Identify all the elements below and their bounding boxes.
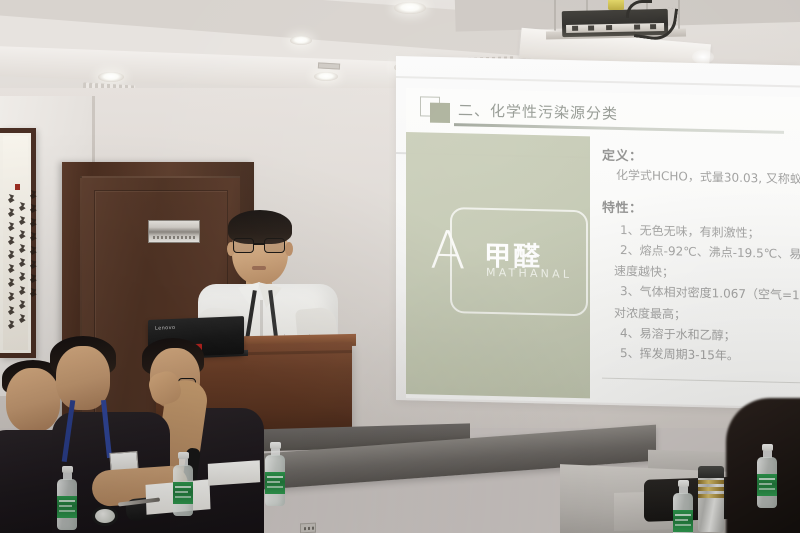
bottle-label xyxy=(673,510,693,532)
ceiling-vent xyxy=(318,62,340,69)
paper-sheet xyxy=(208,460,260,486)
ceiling-light-icon xyxy=(314,72,338,81)
lens xyxy=(233,238,254,253)
projector-light-glow xyxy=(692,50,714,64)
projector-cable xyxy=(626,0,652,18)
water-bottle xyxy=(672,480,694,533)
lens xyxy=(264,238,285,253)
ceiling-light-icon xyxy=(394,2,426,14)
projected-slide: 二、化学性污染源分类 A 甲醛 MATHANAL 定义： 化学式HCHO，式量3… xyxy=(406,88,800,407)
table-power-outlet[interactable] xyxy=(300,523,316,533)
slide-title-row: 二、化学性污染源分类 xyxy=(406,88,800,135)
square-filled-icon xyxy=(430,103,450,123)
screen-seam xyxy=(396,76,800,88)
scroll-paper xyxy=(3,136,28,350)
presenter-mouth xyxy=(252,266,266,270)
bottle-cap xyxy=(62,466,73,473)
projector-lens-icon xyxy=(608,0,624,10)
logo-letter: A xyxy=(430,225,466,278)
slide-logo-panel: A 甲醛 MATHANAL xyxy=(406,132,590,398)
nameplate-text xyxy=(153,236,197,239)
head xyxy=(6,368,60,432)
projector-port xyxy=(606,25,612,30)
bottle-cap xyxy=(270,442,281,449)
property-item: 1、无色无味，有刺激性； xyxy=(620,222,800,244)
property-item: 2、熔点-92℃、沸点-19.5℃、易 xyxy=(620,242,800,264)
slide-body-text: 定义： 化学式HCHO，式量30.03, 又称蚁醛 特性： 1、无色无味，有刺激… xyxy=(602,145,800,371)
wristwatch-icon xyxy=(92,506,118,526)
projector-mount-rod xyxy=(554,0,556,32)
calligraphy-column xyxy=(18,202,27,323)
ceiling-projector xyxy=(540,0,700,66)
slide-bottom-rule xyxy=(602,378,800,384)
laptop-brand-label: Lenovo xyxy=(155,325,175,332)
water-bottle xyxy=(56,466,78,530)
bottle-cap xyxy=(762,444,773,451)
flask-ring xyxy=(698,487,724,491)
calligraphy-column xyxy=(7,194,16,329)
property-item: 5、挥发周期3-15年。 xyxy=(620,345,800,367)
bottle-label xyxy=(173,482,193,504)
slide-title-rule xyxy=(454,123,784,134)
calligraphy-scroll xyxy=(0,128,36,358)
property-item: 3、气体相对密度1.067（空气=1） xyxy=(620,283,800,305)
ceiling-light-icon xyxy=(290,36,312,45)
bottle-label xyxy=(57,496,77,518)
seal-stamp-icon xyxy=(15,184,20,190)
door-nameplate xyxy=(148,220,200,243)
conference-room-photo: 二、化学性污染源分类 A 甲醛 MATHANAL 定义： 化学式HCHO，式量3… xyxy=(0,0,800,533)
calligraphy-column xyxy=(29,190,38,297)
projector-mount-rod xyxy=(678,0,680,32)
slide-title: 二、化学性污染源分类 xyxy=(458,99,618,124)
flask-ring xyxy=(698,480,724,484)
projector-port xyxy=(588,25,594,30)
properties-heading: 特性： xyxy=(602,197,800,222)
bottle-label xyxy=(265,472,285,494)
property-item-continuation: 速度越快； xyxy=(614,262,800,285)
projector-port xyxy=(572,26,578,31)
water-bottle xyxy=(756,444,778,508)
property-item: 4、易溶于水和乙醇； xyxy=(620,325,800,347)
bottle-cap xyxy=(178,452,189,459)
flask-lid xyxy=(698,466,724,478)
logo-english-name: MATHANAL xyxy=(486,266,572,281)
bottle-label xyxy=(757,474,777,496)
property-item-continuation: 对浓度最高； xyxy=(614,303,800,326)
eyeglasses-icon xyxy=(233,238,287,253)
water-bottle xyxy=(264,442,286,506)
glasses-bridge xyxy=(254,243,264,245)
flask-ring xyxy=(698,494,724,498)
ceiling-light-icon xyxy=(98,72,124,82)
bottle-cap xyxy=(678,480,689,487)
water-bottle xyxy=(172,452,194,516)
vacuum-flask xyxy=(698,466,724,532)
definition-line: 化学式HCHO，式量30.03, 又称蚁醛 xyxy=(616,166,800,189)
